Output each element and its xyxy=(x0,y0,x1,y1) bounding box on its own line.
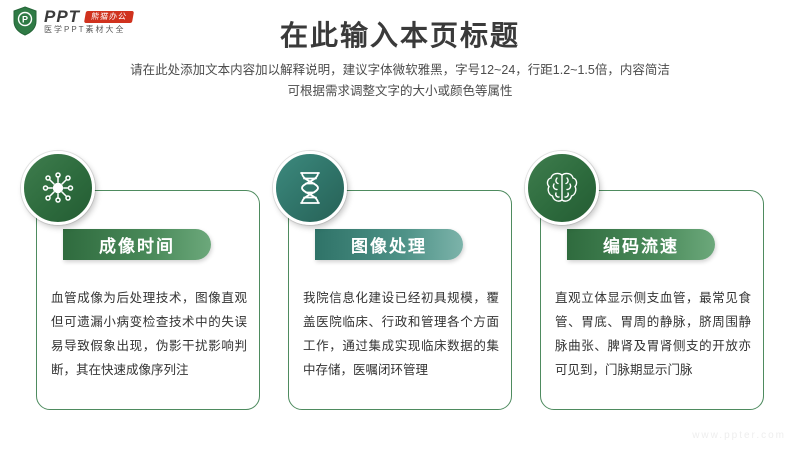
content-card[interactable]: 编码流速 直观立体显示侧支血管，最常见食管、胃底、胃周的静脉，脐周围静脉曲张、脾… xyxy=(540,190,764,410)
content-card[interactable]: 成像时间 血管成像为后处理技术，图像直观但可遗漏小病变检查技术中的失误易导致假象… xyxy=(36,190,260,410)
card-body-text: 直观立体显示侧支血管，最常见食管、胃底、胃周的静脉，脐周围静脉曲张、脾肾及胃肾侧… xyxy=(555,286,751,382)
page-subtitle: 请在此处添加文本内容加以解释说明，建议字体微软雅黑，字号12~24，行距1.2~… xyxy=(0,60,800,102)
molecule-icon xyxy=(21,151,95,225)
subtitle-line-1: 请在此处添加文本内容加以解释说明，建议字体微软雅黑，字号12~24，行距1.2~… xyxy=(0,60,800,81)
card-title-banner: 成像时间 xyxy=(63,229,211,260)
content-card[interactable]: 图像处理 我院信息化建设已经初具规模，覆盖医院临床、行政和管理各个方面工作，通过… xyxy=(288,190,512,410)
card-body-text: 血管成像为后处理技术，图像直观但可遗漏小病变检查技术中的失误易导致假象出现，伪影… xyxy=(51,286,247,382)
page-title: 在此输入本页标题 xyxy=(0,14,800,54)
card-row: 成像时间 血管成像为后处理技术，图像直观但可遗漏小病变检查技术中的失误易导致假象… xyxy=(0,190,800,415)
subtitle-line-2: 可根据需求调整文字的大小或颜色等属性 xyxy=(0,81,800,102)
dna-icon xyxy=(273,151,347,225)
card-body-text: 我院信息化建设已经初具规模，覆盖医院临床、行政和管理各个方面工作，通过集成实现临… xyxy=(303,286,499,382)
watermark: www.ppter.com xyxy=(692,430,786,441)
card-title-banner: 图像处理 xyxy=(315,229,463,260)
brain-icon xyxy=(525,151,599,225)
card-title-banner: 编码流速 xyxy=(567,229,715,260)
